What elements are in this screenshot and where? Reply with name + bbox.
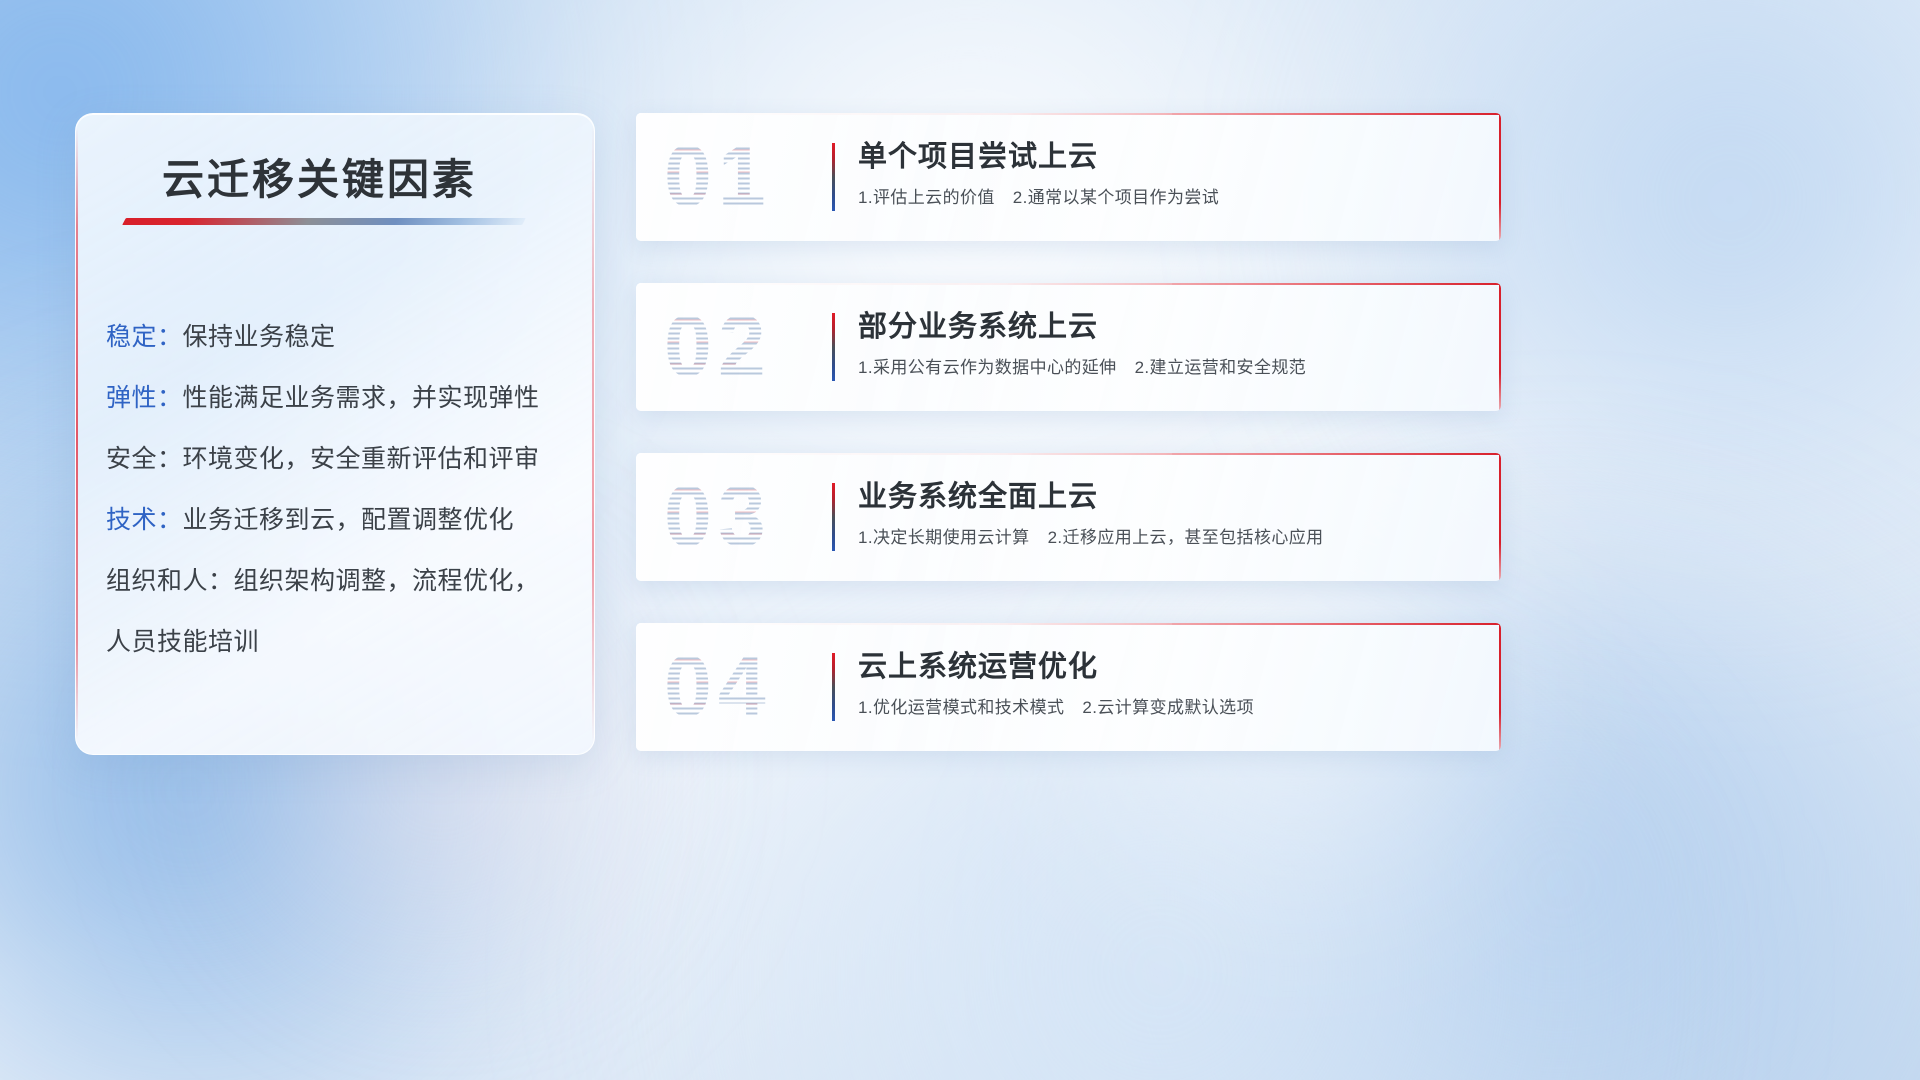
factor-text: 组织架构调整，流程优化， [234, 561, 540, 597]
factor-label: 弹性： [106, 378, 183, 414]
stage-card[interactable]: 0404云上系统运营优化1.优化运营模式和技术模式2.云计算变成默认选项 [636, 623, 1501, 751]
stage-point-2: 2.云计算变成默认选项 [1082, 698, 1254, 717]
factor-label: 技术： [106, 500, 183, 536]
stage-point-1: 1.评估上云的价值 [858, 188, 995, 207]
page-title: 云迁移关键因素 [162, 146, 477, 207]
stage-title: 部分业务系统上云 [858, 307, 1471, 347]
factor-row: 人员技能培训 [106, 609, 574, 670]
stage-text-block: 业务系统全面上云1.决定长期使用云计算2.迁移应用上云，甚至包括核心应用 [858, 477, 1471, 551]
factor-text: 人员技能培训 [106, 622, 259, 658]
stage-card[interactable]: 0101单个项目尝试上云1.评估上云的价值2.通常以某个项目作为尝试 [636, 113, 1501, 241]
stage-point-2: 2.迁移应用上云，甚至包括核心应用 [1048, 528, 1324, 547]
factor-text: 性能满足业务需求，并实现弹性 [183, 378, 540, 414]
stage-point-2: 2.建立运营和安全规范 [1135, 358, 1307, 377]
stage-divider-line [832, 143, 835, 211]
factor-label: 组织和人： [106, 561, 234, 597]
stage-text-block: 单个项目尝试上云1.评估上云的价值2.通常以某个项目作为尝试 [858, 137, 1471, 211]
stage-divider-line [832, 653, 835, 721]
stage-point-1: 1.决定长期使用云计算 [858, 528, 1030, 547]
stage-divider-line [832, 313, 835, 381]
stage-title: 单个项目尝试上云 [858, 137, 1471, 177]
stage-title: 云上系统运营优化 [858, 647, 1471, 687]
stage-card-list: 0101单个项目尝试上云1.评估上云的价值2.通常以某个项目作为尝试0202部分… [636, 113, 1501, 793]
factor-label: 稳定： [106, 317, 183, 353]
stage-point-1: 1.优化运营模式和技术模式 [858, 698, 1064, 717]
stage-description: 1.评估上云的价值2.通常以某个项目作为尝试 [858, 185, 1471, 211]
factor-row: 安全：环境变化，安全重新评估和评审 [106, 426, 574, 487]
stage-description: 1.决定长期使用云计算2.迁移应用上云，甚至包括核心应用 [858, 525, 1471, 551]
title-underline-accent [122, 218, 526, 225]
stage-divider-line [832, 483, 835, 551]
factor-text: 业务迁移到云，配置调整优化 [183, 500, 515, 536]
stage-point-1: 1.采用公有云作为数据中心的延伸 [858, 358, 1117, 377]
factor-label: 安全： [106, 439, 183, 475]
stage-text-block: 云上系统运营优化1.优化运营模式和技术模式2.云计算变成默认选项 [858, 647, 1471, 721]
stage-number: 03 [664, 468, 772, 567]
factor-row: 弹性：性能满足业务需求，并实现弹性 [106, 365, 574, 426]
factor-row: 技术：业务迁移到云，配置调整优化 [106, 487, 574, 548]
stage-number: 02 [664, 298, 772, 397]
factor-list: 稳定：保持业务稳定弹性：性能满足业务需求，并实现弹性安全：环境变化，安全重新评估… [106, 304, 574, 670]
stage-description: 1.优化运营模式和技术模式2.云计算变成默认选项 [858, 695, 1471, 721]
stage-number: 04 [664, 638, 772, 737]
factor-text: 环境变化，安全重新评估和评审 [183, 439, 540, 475]
stage-point-2: 2.通常以某个项目作为尝试 [1013, 188, 1219, 207]
factor-row: 组织和人：组织架构调整，流程优化， [106, 548, 574, 609]
stage-number: 01 [664, 128, 772, 227]
stage-card[interactable]: 0202部分业务系统上云1.采用公有云作为数据中心的延伸2.建立运营和安全规范 [636, 283, 1501, 411]
stage-card[interactable]: 0303业务系统全面上云1.决定长期使用云计算2.迁移应用上云，甚至包括核心应用 [636, 453, 1501, 581]
factor-text: 保持业务稳定 [183, 317, 336, 353]
factor-row: 稳定：保持业务稳定 [106, 304, 574, 365]
key-factors-panel: 云迁移关键因素 稳定：保持业务稳定弹性：性能满足业务需求，并实现弹性安全：环境变… [75, 113, 595, 755]
stage-description: 1.采用公有云作为数据中心的延伸2.建立运营和安全规范 [858, 355, 1471, 381]
stage-title: 业务系统全面上云 [858, 477, 1471, 517]
stage-text-block: 部分业务系统上云1.采用公有云作为数据中心的延伸2.建立运营和安全规范 [858, 307, 1471, 381]
